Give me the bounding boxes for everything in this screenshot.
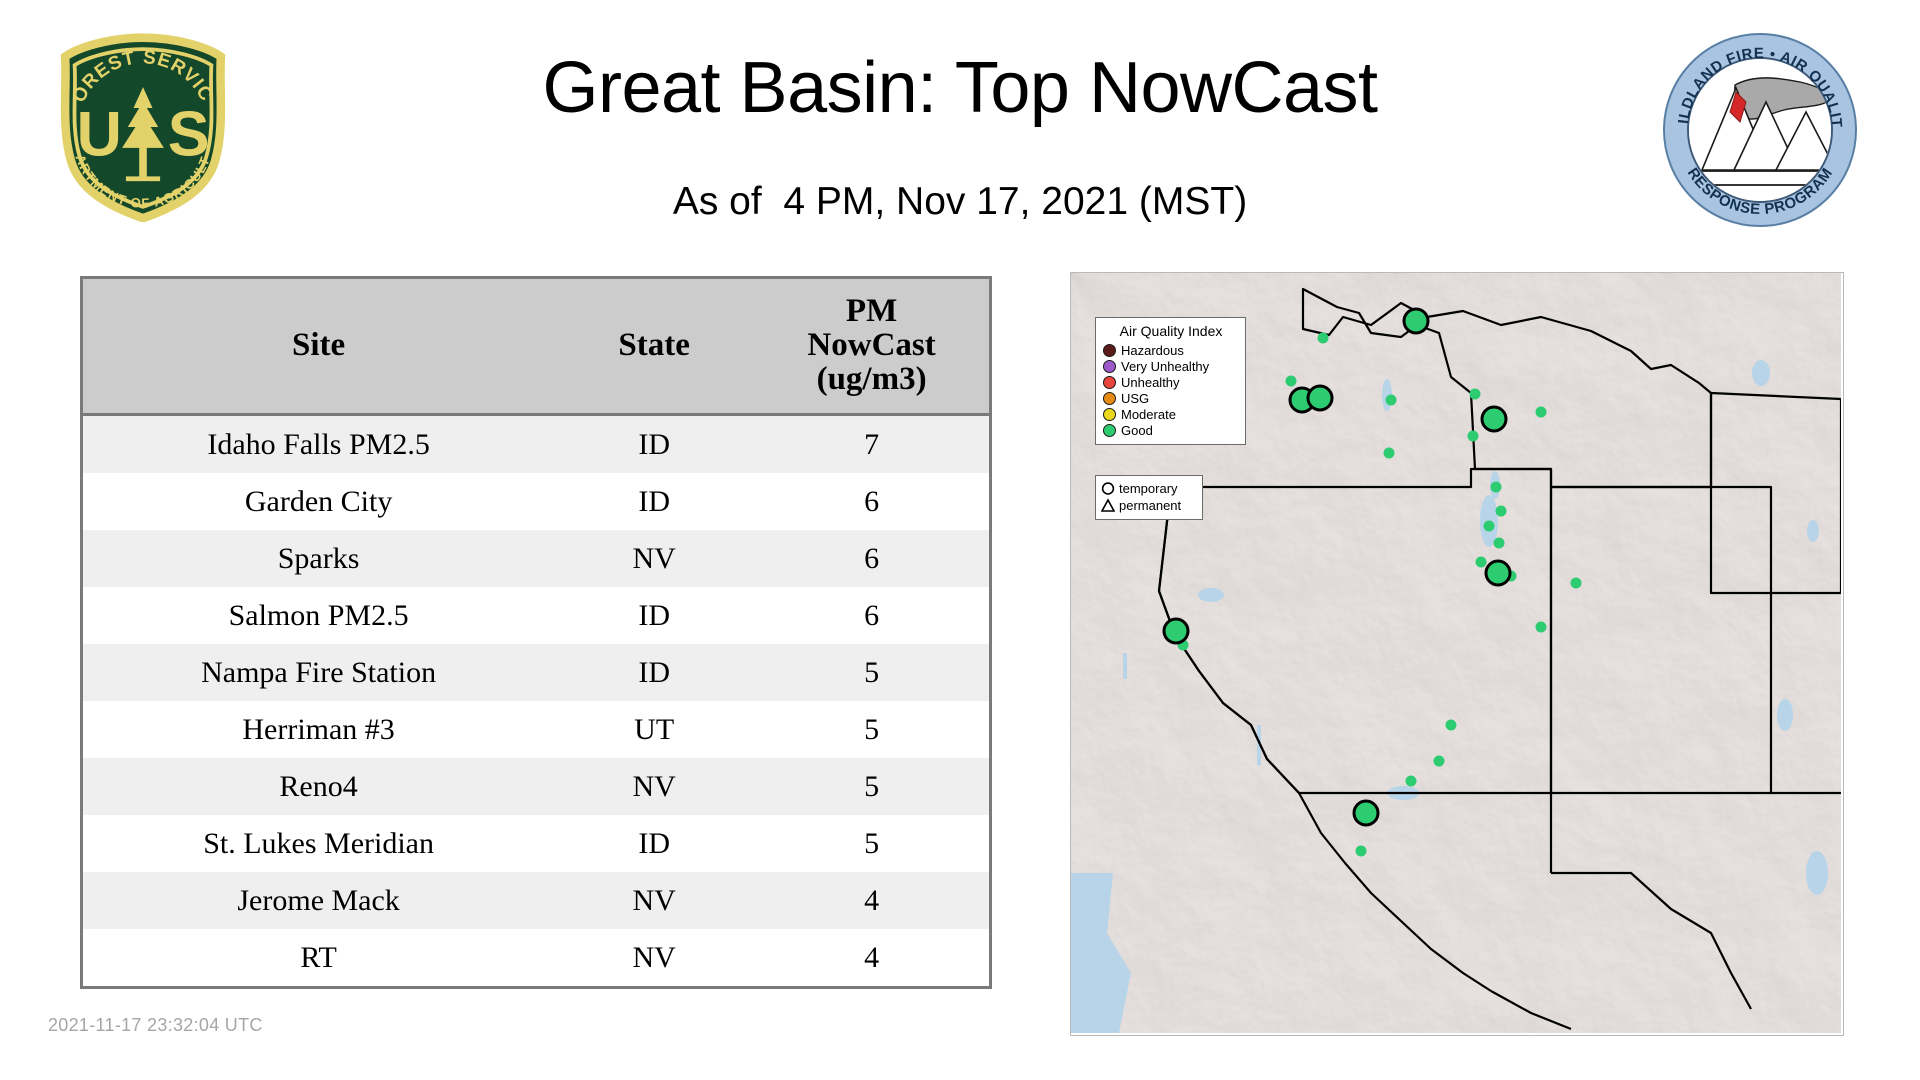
legend-swatch-icon bbox=[1103, 424, 1116, 437]
monitor-dot[interactable] bbox=[1494, 538, 1505, 549]
legend-swatch-icon bbox=[1103, 360, 1116, 373]
table-row: Reno4NV5 bbox=[82, 758, 991, 815]
legend-title: Air Quality Index bbox=[1103, 323, 1239, 339]
legend-label: Unhealthy bbox=[1121, 375, 1180, 390]
legend-swatch-icon bbox=[1103, 344, 1116, 357]
wildland-fire-air-quality-logo: WILDLAND FIRE • AIR QUALITY RESPONSE PRO… bbox=[1660, 30, 1860, 230]
cell-site: Nampa Fire Station bbox=[82, 644, 555, 701]
monitor-dot[interactable] bbox=[1496, 506, 1507, 517]
monitor-map-panel[interactable]: Air Quality Index HazardousVery Unhealth… bbox=[1070, 272, 1844, 1036]
cell-pm: 6 bbox=[754, 473, 990, 530]
cell-site: Garden City bbox=[82, 473, 555, 530]
monitor-dot[interactable] bbox=[1536, 622, 1547, 633]
top-monitor-dot[interactable] bbox=[1404, 309, 1428, 333]
table-row: Nampa Fire StationID5 bbox=[82, 644, 991, 701]
pm-header-line-1: PM bbox=[758, 294, 985, 328]
table-row: SparksNV6 bbox=[82, 530, 991, 587]
cell-pm: 4 bbox=[754, 929, 990, 988]
cell-site: Salmon PM2.5 bbox=[82, 587, 555, 644]
cell-site: Idaho Falls PM2.5 bbox=[82, 415, 555, 474]
cell-state: ID bbox=[554, 815, 754, 872]
cell-state: NV bbox=[554, 530, 754, 587]
pm-header-line-3: (ug/m3) bbox=[758, 362, 985, 396]
legend-row-usg: USG bbox=[1103, 390, 1239, 406]
legend-swatch-icon bbox=[1103, 408, 1116, 421]
cell-state: NV bbox=[554, 929, 754, 988]
monitor-dot[interactable] bbox=[1470, 389, 1481, 400]
legend-label-temporary: temporary bbox=[1119, 481, 1178, 496]
cell-pm: 5 bbox=[754, 644, 990, 701]
monitor-dot[interactable] bbox=[1406, 776, 1417, 787]
cell-pm: 6 bbox=[754, 587, 990, 644]
table-row: Salmon PM2.5ID6 bbox=[82, 587, 991, 644]
cell-site: Jerome Mack bbox=[82, 872, 555, 929]
cell-pm: 5 bbox=[754, 758, 990, 815]
temporary-circle-icon bbox=[1101, 481, 1115, 496]
legend-label: Good bbox=[1121, 423, 1153, 438]
monitor-dot[interactable] bbox=[1318, 333, 1329, 344]
monitor-dot[interactable] bbox=[1384, 448, 1395, 459]
top-monitor-dot[interactable] bbox=[1482, 407, 1506, 431]
legend-row-permanent: permanent bbox=[1101, 497, 1197, 514]
legend-swatch-icon bbox=[1103, 392, 1116, 405]
top-monitor-dot[interactable] bbox=[1308, 386, 1332, 410]
legend-label: USG bbox=[1121, 391, 1149, 406]
monitor-dot[interactable] bbox=[1468, 431, 1479, 442]
table-row: St. Lukes MeridianID5 bbox=[82, 815, 991, 872]
page-subtitle: As of 4 PM, Nov 17, 2021 (MST) bbox=[300, 182, 1620, 221]
monitor-dot[interactable] bbox=[1386, 395, 1397, 406]
page-title: Great Basin: Top NowCast bbox=[300, 52, 1620, 124]
top-nowcast-table-container: Site State PM NowCast (ug/m3) Idaho Fall… bbox=[80, 276, 992, 989]
column-header-site: Site bbox=[82, 278, 555, 415]
legend-row-moderate: Moderate bbox=[1103, 406, 1239, 422]
monitor-dot[interactable] bbox=[1491, 482, 1502, 493]
monitor-dot[interactable] bbox=[1446, 720, 1457, 731]
cell-state: ID bbox=[554, 473, 754, 530]
usfs-shield-logo: FOREST SERVICE U S DEPARTMENT OF AGRICUL… bbox=[48, 32, 238, 222]
table-head: Site State PM NowCast (ug/m3) bbox=[82, 278, 991, 415]
cell-site: Reno4 bbox=[82, 758, 555, 815]
table-row: Herriman #3UT5 bbox=[82, 701, 991, 758]
cell-state: ID bbox=[554, 415, 754, 474]
cell-site: Sparks bbox=[82, 530, 555, 587]
monitor-dot[interactable] bbox=[1434, 756, 1445, 767]
top-monitor-dot[interactable] bbox=[1486, 561, 1510, 585]
cell-site: St. Lukes Meridian bbox=[82, 815, 555, 872]
cell-state: NV bbox=[554, 872, 754, 929]
top-nowcast-table: Site State PM NowCast (ug/m3) Idaho Fall… bbox=[80, 276, 992, 989]
monitor-dot[interactable] bbox=[1286, 376, 1297, 387]
cell-state: ID bbox=[554, 587, 754, 644]
monitor-type-legend: temporary permanent bbox=[1095, 475, 1203, 520]
monitor-dot[interactable] bbox=[1484, 521, 1495, 532]
legend-row-hazardous: Hazardous bbox=[1103, 342, 1239, 358]
table-header-row: Site State PM NowCast (ug/m3) bbox=[82, 278, 991, 415]
cell-site: Herriman #3 bbox=[82, 701, 555, 758]
top-monitor-dot[interactable] bbox=[1354, 801, 1378, 825]
table-row: Garden CityID6 bbox=[82, 473, 991, 530]
legend-row-unhealthy: Unhealthy bbox=[1103, 374, 1239, 390]
legend-label: Hazardous bbox=[1121, 343, 1184, 358]
cell-pm: 7 bbox=[754, 415, 990, 474]
table-row: Jerome MackNV4 bbox=[82, 872, 991, 929]
legend-swatch-icon bbox=[1103, 376, 1116, 389]
legend-row-good: Good bbox=[1103, 422, 1239, 438]
legend-label-permanent: permanent bbox=[1119, 498, 1181, 513]
legend-row-very-unhealthy: Very Unhealthy bbox=[1103, 358, 1239, 374]
monitor-dot[interactable] bbox=[1571, 578, 1582, 589]
air-quality-index-legend: Air Quality Index HazardousVery Unhealth… bbox=[1095, 317, 1246, 445]
monitor-dot[interactable] bbox=[1356, 846, 1367, 857]
cell-pm: 5 bbox=[754, 701, 990, 758]
column-header-state: State bbox=[554, 278, 754, 415]
footer-timestamp: 2021-11-17 23:32:04 UTC bbox=[48, 1015, 263, 1036]
page-header: FOREST SERVICE U S DEPARTMENT OF AGRICUL… bbox=[0, 0, 1920, 265]
cell-pm: 5 bbox=[754, 815, 990, 872]
cell-site: RT bbox=[82, 929, 555, 988]
cell-state: NV bbox=[554, 758, 754, 815]
permanent-triangle-icon bbox=[1101, 498, 1115, 513]
column-header-pm-nowcast: PM NowCast (ug/m3) bbox=[754, 278, 990, 415]
legend-row-temporary: temporary bbox=[1101, 480, 1197, 497]
cell-state: UT bbox=[554, 701, 754, 758]
legend-label: Very Unhealthy bbox=[1121, 359, 1209, 374]
monitor-dot[interactable] bbox=[1476, 557, 1487, 568]
legend-label: Moderate bbox=[1121, 407, 1176, 422]
top-monitor-dot[interactable] bbox=[1164, 619, 1188, 643]
table-row: Idaho Falls PM2.5ID7 bbox=[82, 415, 991, 474]
cell-pm: 6 bbox=[754, 530, 990, 587]
cell-pm: 4 bbox=[754, 872, 990, 929]
cell-state: ID bbox=[554, 644, 754, 701]
table-row: RTNV4 bbox=[82, 929, 991, 988]
monitor-dot[interactable] bbox=[1536, 407, 1547, 418]
table-body: Idaho Falls PM2.5ID7Garden CityID6Sparks… bbox=[82, 415, 991, 988]
pm-header-line-2: NowCast bbox=[758, 328, 985, 362]
